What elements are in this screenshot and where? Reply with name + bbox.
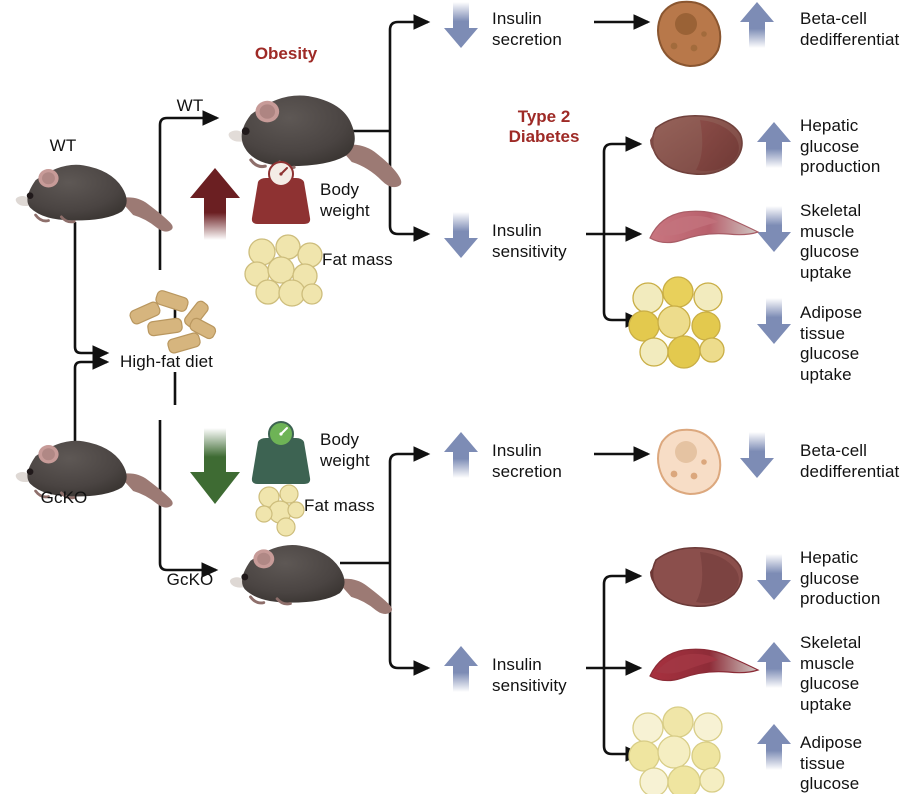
label-beta-cell-dediff-bottom: Beta-cell dedifferentiation: [800, 441, 900, 482]
adipose-tissue-icon-top: [629, 277, 724, 368]
beta-cell-healthy-icon: [658, 430, 720, 494]
fat-mass-large-icon: [245, 235, 322, 306]
body-weight-up-arrow-red: [190, 168, 240, 240]
connector-layer: [0, 0, 900, 794]
insulin-sensitivity-up-arrow-bottom: [444, 646, 478, 692]
label-insulin-secretion-bottom: Insulin secretion: [492, 441, 602, 482]
insulin-secretion-up-arrow-bottom: [444, 432, 478, 478]
label-insulin-sensitivity-top: Insulin sensitivity: [492, 221, 602, 262]
skeletal-muscle-up-arrow-bottom: [757, 642, 791, 688]
label-fat-mass-top: Fat mass: [322, 250, 452, 271]
label-high-fat-diet: High-fat diet: [120, 352, 260, 373]
label-insulin-secretion-top: Insulin secretion: [492, 9, 602, 50]
skeletal-muscle-down-arrow-top: [757, 206, 791, 252]
fat-mass-small-icon: [256, 485, 304, 536]
adipose-down-arrow-top: [757, 298, 791, 344]
figure-canvas: WT GcKO High-fat diet WT GcKO Obesity Ty…: [0, 0, 900, 794]
skeletal-muscle-icon-top: [650, 211, 758, 242]
label-skeletal-muscle-uptake-top: Skeletal muscle glucose uptake: [800, 201, 900, 284]
weight-scale-green-icon: [252, 422, 310, 484]
label-hepatic-glucose-production-bottom: Hepatic glucose production: [800, 548, 900, 610]
adipose-tissue-icon-bottom: [629, 707, 724, 794]
header-obesity: Obesity: [216, 44, 356, 64]
label-adipose-uptake-top: Adipose tissue glucose uptake: [800, 303, 900, 386]
illustration-layer: [0, 0, 900, 794]
label-wt-start: WT: [18, 136, 108, 157]
liver-icon-bottom: [650, 548, 742, 607]
hepatic-down-arrow-bottom: [757, 554, 791, 600]
beta-cell-down-arrow-bottom: [740, 432, 774, 478]
high-fat-diet-pellets: [128, 289, 217, 354]
mouse-wt-obese: [229, 95, 402, 187]
adipose-up-arrow-bottom: [757, 724, 791, 770]
header-type2-diabetes: Type 2 Diabetes: [484, 107, 604, 147]
label-beta-cell-dediff-top: Beta-cell dedifferentiation: [800, 9, 900, 50]
label-gcko-start: GcKO: [14, 488, 114, 509]
label-adipose-uptake-bottom: Adipose tissue glucose uptake: [800, 733, 900, 794]
label-body-weight-bottom: Body weight: [320, 430, 440, 471]
body-weight-down-arrow-green: [190, 428, 240, 504]
skeletal-muscle-icon-bottom: [650, 649, 758, 680]
label-body-weight-top: Body weight: [320, 180, 440, 221]
insulin-secretion-down-arrow-top: [444, 2, 478, 48]
label-skeletal-muscle-uptake-bottom: Skeletal muscle glucose uptake: [800, 633, 900, 716]
label-branch-gcko: GcKO: [152, 570, 228, 591]
label-branch-wt: WT: [160, 96, 220, 117]
hepatic-up-arrow-top: [757, 122, 791, 168]
mouse-gcko-diet: [230, 545, 392, 615]
beta-cell-up-arrow-top: [740, 2, 774, 48]
label-insulin-sensitivity-bottom: Insulin sensitivity: [492, 655, 602, 696]
label-fat-mass-bottom: Fat mass: [304, 496, 434, 517]
beta-cell-dedifferentiated-icon: [658, 2, 720, 66]
label-hepatic-glucose-production-top: Hepatic glucose production: [800, 116, 900, 178]
mouse-wt-start: [16, 165, 173, 232]
weight-scale-red-icon: [252, 162, 310, 224]
liver-icon-top: [650, 116, 742, 175]
